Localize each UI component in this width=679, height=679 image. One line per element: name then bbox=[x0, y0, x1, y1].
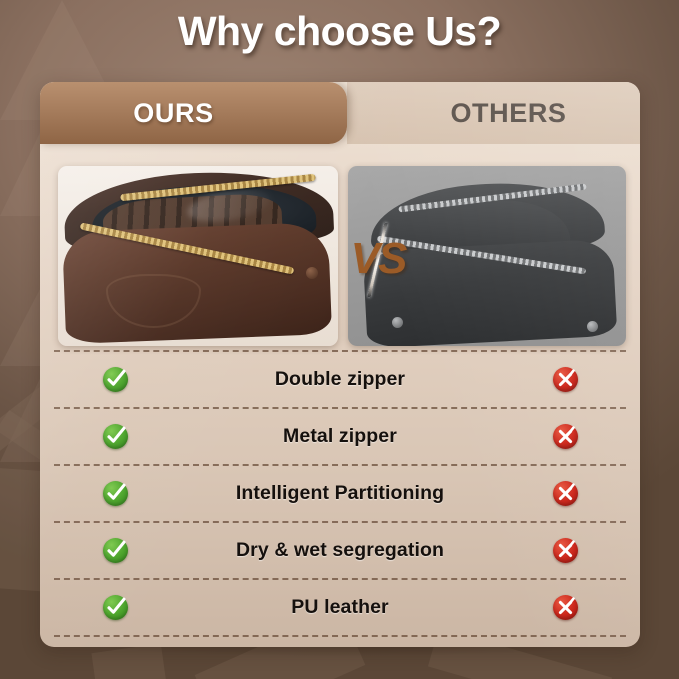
feature-mark-others bbox=[490, 595, 640, 620]
cross-circle-icon bbox=[553, 595, 578, 620]
feature-label: Double zipper bbox=[190, 368, 490, 391]
cross-circle-icon bbox=[553, 538, 578, 563]
feature-label: Intelligent Partitioning bbox=[190, 482, 490, 505]
feature-mark-others bbox=[490, 367, 640, 392]
check-circle-icon bbox=[103, 481, 128, 506]
feature-list: Double zipperMetal zipperIntelligent Par… bbox=[40, 350, 640, 637]
feature-mark-ours bbox=[40, 538, 190, 563]
feature-mark-ours bbox=[40, 367, 190, 392]
feature-row: Dry & wet segregation bbox=[40, 523, 640, 578]
cross-circle-icon bbox=[553, 481, 578, 506]
feature-row: Intelligent Partitioning bbox=[40, 466, 640, 521]
feature-label: PU leather bbox=[190, 596, 490, 619]
product-image-ours bbox=[58, 166, 338, 346]
feature-row: PU leather bbox=[40, 580, 640, 635]
check-circle-icon bbox=[103, 367, 128, 392]
page-title: Why choose Us? bbox=[0, 8, 679, 55]
feature-mark-ours bbox=[40, 595, 190, 620]
feature-row: Double zipper bbox=[40, 352, 640, 407]
feature-label: Dry & wet segregation bbox=[190, 539, 490, 562]
comparison-tabs: OURS OTHERS bbox=[40, 82, 640, 144]
tab-others[interactable]: OTHERS bbox=[347, 82, 640, 144]
feature-mark-ours bbox=[40, 481, 190, 506]
product-image-others bbox=[348, 166, 626, 346]
check-circle-icon bbox=[103, 424, 128, 449]
feature-mark-others bbox=[490, 538, 640, 563]
cross-circle-icon bbox=[553, 424, 578, 449]
cross-circle-icon bbox=[553, 367, 578, 392]
check-circle-icon bbox=[103, 538, 128, 563]
feature-label: Metal zipper bbox=[190, 425, 490, 448]
tab-ours[interactable]: OURS bbox=[40, 82, 347, 144]
feature-mark-ours bbox=[40, 424, 190, 449]
row-divider bbox=[54, 635, 626, 637]
check-circle-icon bbox=[103, 595, 128, 620]
feature-row: Metal zipper bbox=[40, 409, 640, 464]
feature-mark-others bbox=[490, 424, 640, 449]
comparison-card: OURS OTHERS VS bbox=[40, 82, 640, 647]
feature-mark-others bbox=[490, 481, 640, 506]
